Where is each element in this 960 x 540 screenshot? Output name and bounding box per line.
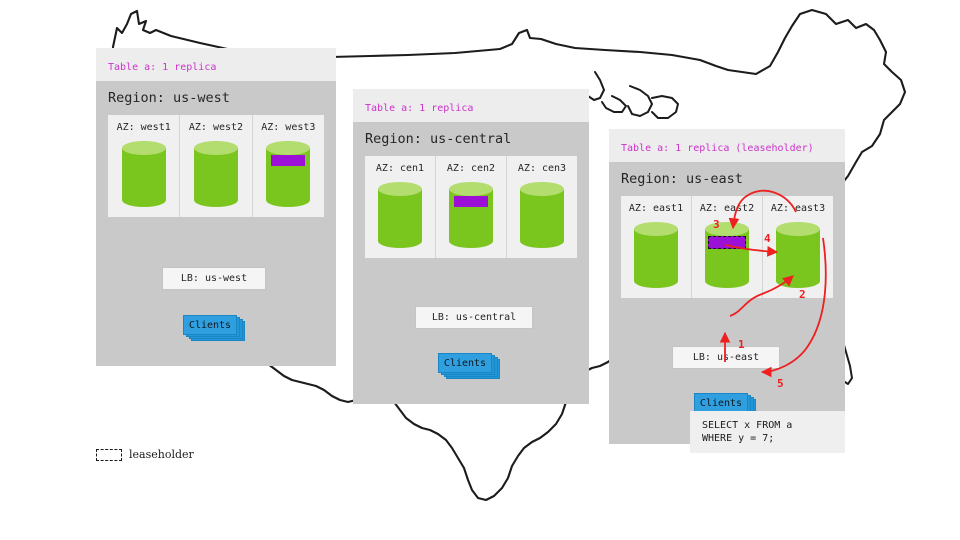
load-balancer-us-east[interactable]: LB: us-east — [672, 346, 780, 369]
az-label: AZ: cen3 — [507, 163, 577, 174]
arrow-number-1: 1 — [738, 338, 745, 351]
database-cylinder-icon — [705, 222, 749, 288]
region-title: Region: us-west — [96, 81, 336, 115]
az-row-us-west: AZ: west1 AZ: west2 — [108, 115, 324, 217]
az-label: AZ: west1 — [108, 122, 179, 133]
clients-label: Clients — [694, 393, 748, 413]
region-title: Region: us-east — [609, 162, 845, 196]
az-label: AZ: east3 — [763, 203, 833, 214]
legend: leaseholder — [96, 448, 194, 461]
database-cylinder-icon — [634, 222, 678, 288]
range-replica-cen2 — [454, 196, 488, 207]
arrow-number-5: 5 — [777, 377, 784, 390]
az-cell-east2[interactable]: AZ: east2 — [692, 196, 763, 298]
sql-query-box: SELECT x FROM a WHERE y = 7; — [690, 411, 845, 453]
database-cylinder-icon — [520, 182, 564, 248]
node-east2[interactable] — [692, 222, 762, 288]
diagram-canvas: Table a: 1 replica Region: us-west AZ: w… — [0, 0, 960, 540]
panel-header-us-west: Table a: 1 replica — [96, 48, 336, 81]
region-title: Region: us-central — [353, 122, 589, 156]
node-west1[interactable] — [108, 141, 179, 207]
node-cen2[interactable] — [436, 182, 506, 248]
az-label: AZ: west3 — [253, 122, 324, 133]
range-replica-west3 — [271, 155, 305, 166]
leaseholder-range-east2 — [708, 236, 746, 249]
panel-body-us-central: Region: us-central AZ: cen1 AZ: cen2 — [353, 122, 589, 404]
load-balancer-us-west[interactable]: LB: us-west — [162, 267, 266, 290]
clients-label: Clients — [438, 353, 492, 373]
arrow-number-3: 3 — [713, 218, 720, 231]
panel-header-us-central: Table a: 1 replica — [353, 89, 589, 122]
table-replica-leaseholder-label: Table a: 1 replica (leaseholder) — [621, 143, 814, 154]
region-panel-us-west: Table a: 1 replica Region: us-west AZ: w… — [96, 48, 336, 366]
arrow-number-2: 2 — [799, 288, 806, 301]
az-cell-cen2[interactable]: AZ: cen2 — [436, 156, 507, 258]
node-east1[interactable] — [621, 222, 691, 288]
az-label: AZ: east1 — [621, 203, 691, 214]
table-replica-label: Table a: 1 replica — [108, 62, 216, 73]
legend-label: leaseholder — [129, 448, 194, 461]
clients-us-central[interactable]: Clients — [438, 353, 500, 379]
load-balancer-us-central[interactable]: LB: us-central — [415, 306, 533, 329]
az-row-us-central: AZ: cen1 AZ: cen2 — [365, 156, 577, 258]
az-cell-east3[interactable]: AZ: east3 — [763, 196, 833, 298]
database-cylinder-icon — [449, 182, 493, 248]
panel-header-us-east: Table a: 1 replica (leaseholder) — [609, 129, 845, 162]
database-cylinder-icon — [194, 141, 238, 207]
panel-body-us-west: Region: us-west AZ: west1 AZ: west2 — [96, 81, 336, 366]
az-cell-west1[interactable]: AZ: west1 — [108, 115, 180, 217]
database-cylinder-icon — [378, 182, 422, 248]
az-cell-east1[interactable]: AZ: east1 — [621, 196, 692, 298]
dashed-rectangle-icon — [96, 449, 122, 461]
az-row-us-east: AZ: east1 AZ: east2 — [621, 196, 833, 298]
database-cylinder-icon — [266, 141, 310, 207]
panel-body-us-east: Region: us-east AZ: east1 AZ: east2 — [609, 162, 845, 444]
database-cylinder-icon — [122, 141, 166, 207]
clients-us-west[interactable]: Clients — [183, 315, 245, 341]
region-panel-us-central: Table a: 1 replica Region: us-central AZ… — [353, 89, 589, 404]
clients-label: Clients — [183, 315, 237, 335]
az-cell-cen1[interactable]: AZ: cen1 — [365, 156, 436, 258]
table-replica-label: Table a: 1 replica — [365, 103, 473, 114]
az-cell-west2[interactable]: AZ: west2 — [180, 115, 252, 217]
az-label: AZ: west2 — [180, 122, 251, 133]
az-cell-west3[interactable]: AZ: west3 — [253, 115, 324, 217]
az-cell-cen3[interactable]: AZ: cen3 — [507, 156, 577, 258]
az-label: AZ: east2 — [692, 203, 762, 214]
node-east3[interactable] — [763, 222, 833, 288]
node-west3[interactable] — [253, 141, 324, 207]
node-cen1[interactable] — [365, 182, 435, 248]
node-west2[interactable] — [180, 141, 251, 207]
database-cylinder-icon — [776, 222, 820, 288]
az-label: AZ: cen2 — [436, 163, 506, 174]
az-label: AZ: cen1 — [365, 163, 435, 174]
node-cen3[interactable] — [507, 182, 577, 248]
arrow-number-4: 4 — [764, 232, 771, 245]
region-panel-us-east: Table a: 1 replica (leaseholder) Region:… — [609, 129, 845, 444]
